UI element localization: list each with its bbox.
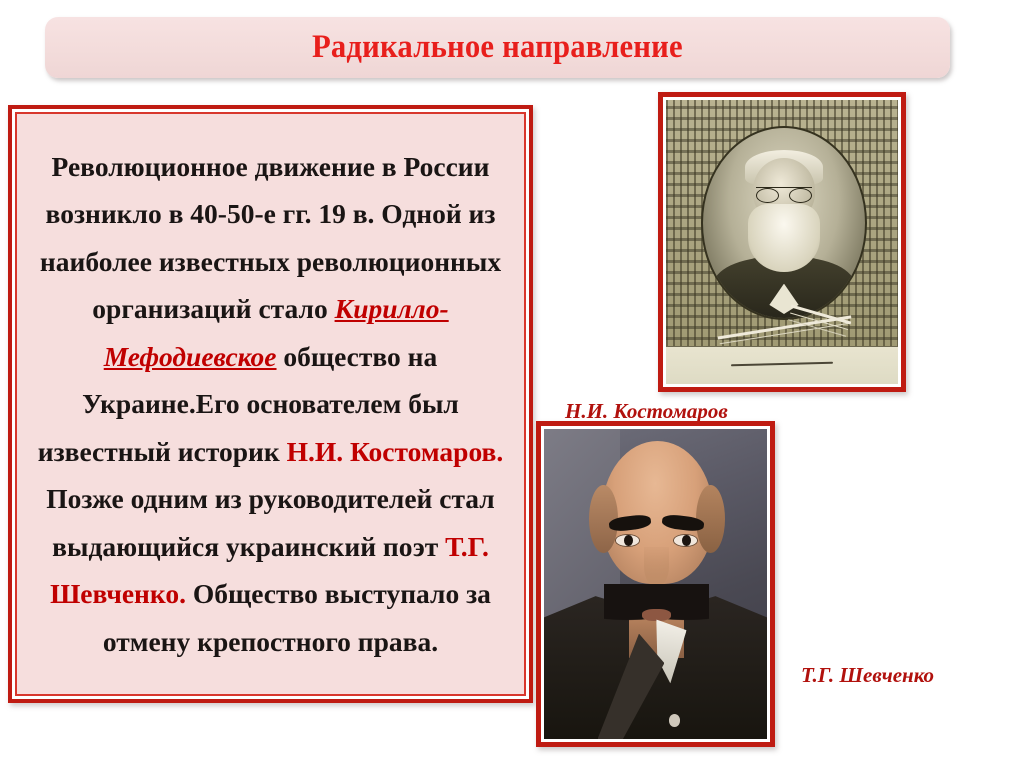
portrait-image-shevchenko: [544, 429, 767, 739]
panel-inner-fill: Революционное движение в России возникло…: [15, 112, 526, 696]
frame-white-mat: [541, 426, 770, 742]
figure-button: [669, 714, 680, 726]
portrait-frame-shevchenko: [536, 421, 775, 747]
figure-eye-left: [615, 534, 640, 546]
portrait-image-kostomarov: [666, 100, 898, 384]
figure-beard: [748, 204, 819, 272]
slide-title-bar: Радикальное направление: [45, 17, 950, 78]
glasses-icon: [756, 187, 811, 201]
laurel-branch-ornament: [717, 310, 852, 338]
panel-white-gap: Революционное движение в России возникло…: [12, 109, 529, 699]
figure-lip: [642, 609, 671, 621]
figure-nose: [644, 547, 669, 587]
highlighted-term: Н.И. Костомаров.: [287, 436, 504, 467]
figure-eye-right: [673, 534, 698, 546]
caption-shevchenko: Т.Г. Шевченко: [801, 663, 934, 688]
signature-strip: [666, 346, 898, 384]
oval-vignette: [701, 126, 867, 320]
page-title: Радикальное направление: [312, 29, 683, 66]
body-text-run: Позже одним из руководителей стал выдающ…: [46, 483, 494, 562]
frame-white-mat: [663, 97, 901, 387]
body-text-panel: Революционное движение в России возникло…: [8, 105, 533, 703]
portrait-frame-kostomarov: [658, 92, 906, 392]
body-paragraph: Революционное движение в России возникло…: [33, 143, 508, 666]
